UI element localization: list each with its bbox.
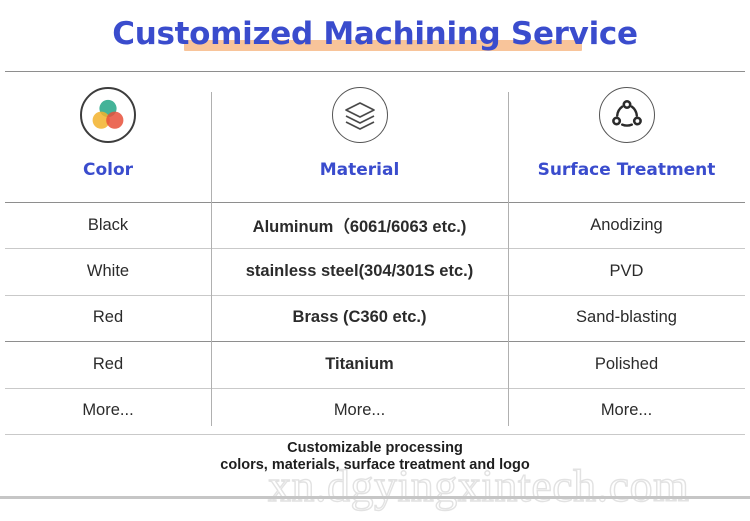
cell-material: More... [211, 401, 508, 420]
cell-material: Titanium [211, 355, 508, 374]
table-row: Black Aluminum（6061/6063 etc.) Anodizing [5, 202, 745, 248]
color-wheel-icon-svg [89, 96, 127, 134]
table-row: Red Titanium Polished [5, 341, 745, 387]
table-row: White stainless steel(304/301S etc.) PVD [5, 248, 745, 294]
table-header-row: Color Material [5, 71, 745, 202]
bottom-rule [0, 496, 750, 499]
cell-material: stainless steel(304/301S etc.) [211, 262, 508, 281]
cell-color: White [5, 262, 211, 281]
header-label-color: Color [83, 160, 133, 180]
layers-stack-icon-svg [342, 97, 378, 133]
cell-color: Black [5, 216, 211, 235]
cell-surface: Sand-blasting [508, 308, 745, 327]
header-cell-surface-treatment: Surface Treatment [508, 71, 745, 202]
watermark-text: xn.dgyingxintech.com [268, 461, 689, 511]
surface-nodes-icon [599, 87, 655, 143]
header-cell-color: Color [5, 71, 211, 202]
cell-surface: More... [508, 401, 745, 420]
table-row: More... More... More... [5, 388, 745, 434]
cell-color: More... [5, 401, 211, 420]
header-label-material: Material [320, 160, 400, 180]
cell-surface: Polished [508, 355, 745, 374]
table-row: Red Brass (C360 etc.) Sand-blasting [5, 295, 745, 341]
color-wheel-icon [80, 87, 136, 143]
title-text: Customized Machining Service [112, 14, 637, 54]
header-cell-material: Material [211, 71, 508, 202]
header-label-surface-treatment: Surface Treatment [538, 160, 716, 180]
table-bottom-rule [5, 434, 745, 435]
title-inner: Customized Machining Service [106, 14, 643, 54]
caption-line-1: Customizable processing [0, 440, 750, 457]
table-body: Black Aluminum（6061/6063 etc.) Anodizing… [5, 202, 745, 434]
cell-color: Red [5, 308, 211, 327]
cell-color: Red [5, 355, 211, 374]
surface-nodes-icon-svg [609, 97, 645, 133]
layers-stack-icon [332, 87, 388, 143]
cell-material: Aluminum（6061/6063 etc.) [211, 213, 508, 237]
cell-surface: Anodizing [508, 216, 745, 235]
page-title: Customized Machining Service [0, 8, 750, 60]
cell-material: Brass (C360 etc.) [211, 308, 508, 327]
cell-surface: PVD [508, 262, 745, 281]
infographic-page: Customized Machining Service [0, 0, 750, 521]
